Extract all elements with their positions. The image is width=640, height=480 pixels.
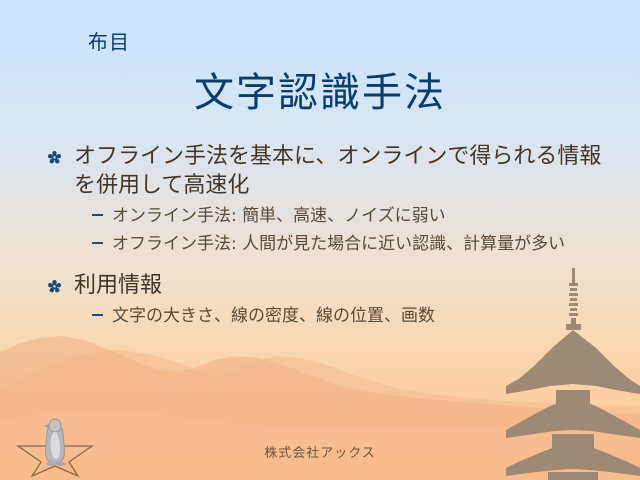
slide-header-label: 布目 (88, 26, 130, 55)
bullet-item: 利用情報 (48, 271, 608, 300)
bullet-text: オフライン手法を基本に、オンラインで得られる情報を併用して高速化 (74, 142, 608, 200)
sub-bullet-text: 文字の大きさ、線の密度、線の位置、画数 (112, 304, 608, 329)
penguin-beak (44, 424, 49, 428)
flower-bullet-icon (48, 271, 74, 293)
dash-icon (92, 304, 112, 316)
sub-bullet-text: オフライン手法: 人間が見た場合に近い認識、計算量が多い (112, 232, 608, 257)
sub-bullet-item: オンライン手法: 簡単、高速、ノイズに弱い (92, 204, 608, 229)
bullet-item: オフライン手法を基本に、オンラインで得られる情報を併用して高速化 (48, 142, 608, 200)
sub-bullet-item: 文字の大きさ、線の密度、線の位置、画数 (92, 304, 608, 329)
penguin-foot-left (46, 462, 56, 466)
dash-icon (92, 232, 112, 244)
bullet-group-spacer (48, 257, 608, 271)
slide-body: オフライン手法を基本に、オンラインで得られる情報を併用して高速化 オンライン手法… (48, 142, 608, 329)
slide-canvas: 布目 文字認識手法 オフライン手法を基本に、オンラインで得ら (0, 0, 640, 480)
sub-bullet-item: オフライン手法: 人間が見た場合に近い認識、計算量が多い (92, 232, 608, 257)
flower-bullet-icon (48, 142, 74, 164)
dash-icon (92, 204, 112, 216)
sub-bullet-text: オンライン手法: 簡単、高速、ノイズに弱い (112, 204, 608, 229)
page-title: 文字認識手法 (0, 60, 640, 118)
bullet-text: 利用情報 (74, 271, 608, 300)
penguin-head (49, 419, 61, 432)
footer-company-name: 株式会社アックス (0, 442, 640, 461)
penguin-foot-right (56, 462, 66, 466)
